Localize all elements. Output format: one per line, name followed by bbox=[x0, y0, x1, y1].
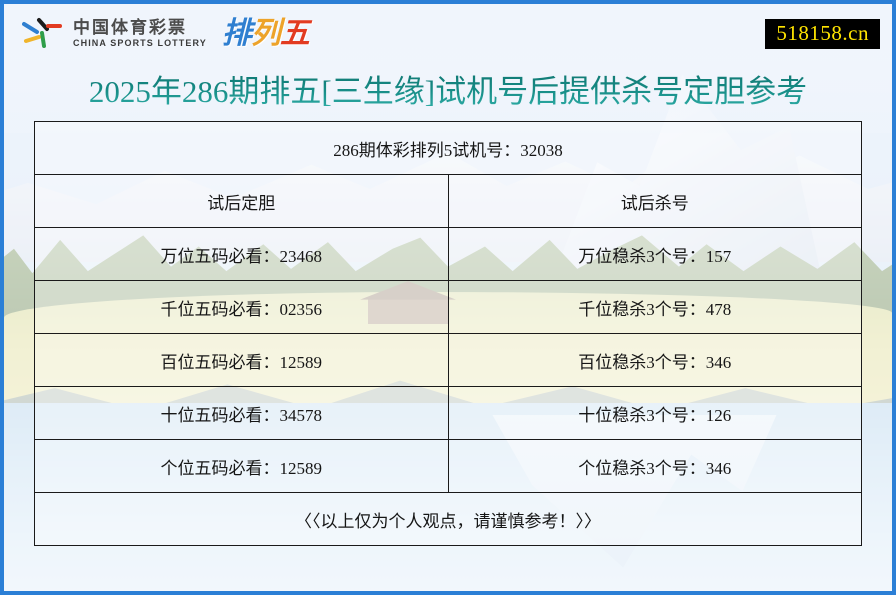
brand-logo[interactable]: 中国体育彩票 CHINA SPORTS LOTTERY 排列五 bbox=[22, 17, 309, 51]
cell-dan-wanwei: 万位五码必看：23468 bbox=[35, 228, 449, 281]
disclaimer-note: 〈〈以上仅为个人观点，请谨慎参考！〉〉 bbox=[35, 493, 862, 546]
table-row: 百位五码必看：12589 百位稳杀3个号：346 bbox=[35, 334, 862, 387]
period-header-cell: 286期体彩排列5试机号：32038 bbox=[35, 122, 862, 175]
table-row: 千位五码必看：02356 千位稳杀3个号：478 bbox=[35, 281, 862, 334]
forecast-table-wrapper: 286期体彩排列5试机号：32038 试后定胆 试后杀号 万位五码必看：2346… bbox=[4, 121, 892, 546]
cell-dan-baiwei: 百位五码必看：12589 bbox=[35, 334, 449, 387]
cell-sha-shiwei: 十位稳杀3个号：126 bbox=[448, 387, 862, 440]
site-header: 中国体育彩票 CHINA SPORTS LOTTERY 排列五 518158.c… bbox=[4, 4, 892, 64]
table-row-column-headers: 试后定胆 试后杀号 bbox=[35, 175, 862, 228]
table-row: 个位五码必看：12589 个位稳杀3个号：346 bbox=[35, 440, 862, 493]
page-title: 2025年286期排五[三生缘]试机号后提供杀号定胆参考 bbox=[4, 64, 892, 121]
brand-name-cn: 中国体育彩票 bbox=[73, 19, 207, 37]
game-logo-char-2: 列 bbox=[251, 17, 280, 50]
cell-dan-gewei: 个位五码必看：12589 bbox=[35, 440, 449, 493]
site-watermark-badge: 518158.cn bbox=[765, 19, 880, 48]
cell-sha-baiwei: 百位稳杀3个号：346 bbox=[448, 334, 862, 387]
cell-dan-shiwei: 十位五码必看：34578 bbox=[35, 387, 449, 440]
cell-sha-gewei: 个位稳杀3个号：346 bbox=[448, 440, 862, 493]
table-row: 万位五码必看：23468 万位稳杀3个号：157 bbox=[35, 228, 862, 281]
cell-dan-qianwei: 千位五码必看：02356 bbox=[35, 281, 449, 334]
brand-name-en: CHINA SPORTS LOTTERY bbox=[73, 39, 207, 49]
game-logo-char-3: 五 bbox=[280, 17, 309, 50]
table-row-footer-note: 〈〈以上仅为个人观点，请谨慎参考！〉〉 bbox=[35, 493, 862, 546]
column-header-dan: 试后定胆 bbox=[35, 175, 449, 228]
sports-lottery-emblem-icon bbox=[22, 17, 64, 51]
table-row: 十位五码必看：34578 十位稳杀3个号：126 bbox=[35, 387, 862, 440]
page-root: 中国体育彩票 CHINA SPORTS LOTTERY 排列五 518158.c… bbox=[0, 0, 896, 595]
table-row-period-header: 286期体彩排列5试机号：32038 bbox=[35, 122, 862, 175]
cell-sha-qianwei: 千位稳杀3个号：478 bbox=[448, 281, 862, 334]
game-logo-char-1: 排 bbox=[222, 17, 251, 50]
column-header-sha: 试后杀号 bbox=[448, 175, 862, 228]
game-logo-pailiewu: 排列五 bbox=[222, 19, 309, 49]
forecast-table: 286期体彩排列5试机号：32038 试后定胆 试后杀号 万位五码必看：2346… bbox=[34, 121, 862, 546]
cell-sha-wanwei: 万位稳杀3个号：157 bbox=[448, 228, 862, 281]
